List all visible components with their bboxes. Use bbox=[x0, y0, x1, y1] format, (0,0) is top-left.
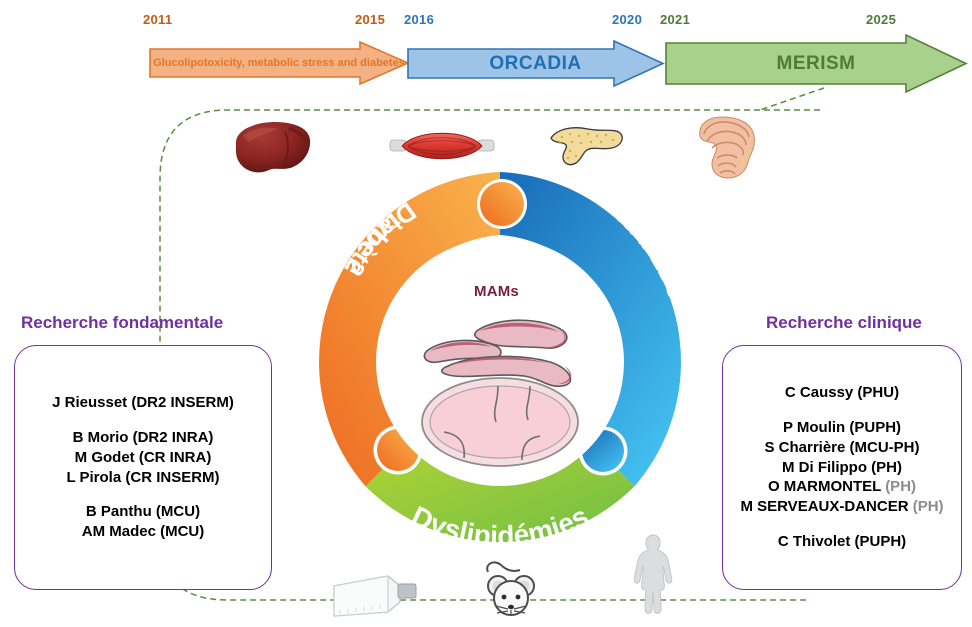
researcher-name: O MARMONTEL (PH) bbox=[768, 477, 916, 497]
year-label-2025: 2025 bbox=[866, 12, 896, 27]
timeline-arrow-merism[interactable]: MERISM bbox=[666, 35, 966, 92]
timeline-arrow-orcadia[interactable]: ORCADIA bbox=[408, 41, 663, 86]
researcher-name: C Caussy (PHU) bbox=[785, 383, 899, 403]
researcher-name-main: O MARMONTEL bbox=[768, 478, 885, 495]
mams-label: MAMs bbox=[474, 283, 519, 300]
researcher-name: M Di Filippo (PH) bbox=[782, 458, 902, 478]
intestine-icon bbox=[692, 114, 762, 182]
researcher-role-dim: (PH) bbox=[913, 498, 944, 515]
mitochondria-er-icon bbox=[422, 320, 578, 466]
researcher-name: M SERVEAUX-DANCER (PH) bbox=[740, 497, 943, 517]
cell-culture-flask-icon bbox=[330, 572, 422, 620]
researcher-name: M Godet (CR INRA) bbox=[75, 448, 212, 468]
researcher-name-main: M SERVEAUX-DANCER bbox=[740, 498, 912, 515]
mouse-icon bbox=[482, 560, 538, 620]
researcher-role-dim: (PH) bbox=[885, 478, 916, 495]
left-panel-content: J Rieusset (DR2 INSERM) B Morio (DR2 INR… bbox=[15, 346, 271, 589]
year-label-2015: 2015 bbox=[355, 12, 385, 27]
year-label-2016: 2016 bbox=[404, 12, 434, 27]
researcher-name: B Morio (DR2 INRA) bbox=[73, 428, 214, 448]
researcher-name: AM Madec (MCU) bbox=[82, 522, 205, 542]
researcher-name: S Charrière (MCU-PH) bbox=[764, 438, 919, 458]
left-panel-title: Recherche fondamentale bbox=[21, 313, 223, 333]
right-panel-title: Recherche clinique bbox=[766, 313, 922, 333]
year-label-2011: 2011 bbox=[143, 12, 172, 27]
researcher-name: P Moulin (PUPH) bbox=[783, 418, 901, 438]
right-panel-content: C Caussy (PHU) P Moulin (PUPH) S Charriè… bbox=[723, 346, 961, 589]
year-label-2021: 2021 bbox=[660, 12, 690, 27]
researcher-name: C Thivolet (PUPH) bbox=[778, 532, 906, 552]
left-panel-recherche-fondamentale[interactable]: J Rieusset (DR2 INSERM) B Morio (DR2 INR… bbox=[14, 345, 272, 590]
researcher-name: L Pirola (CR INSERM) bbox=[66, 468, 219, 488]
year-label-2020: 2020 bbox=[612, 12, 642, 27]
right-panel-recherche-clinique[interactable]: C Caussy (PHU) P Moulin (PUPH) S Charriè… bbox=[722, 345, 962, 590]
researcher-name: J Rieusset (DR2 INSERM) bbox=[52, 393, 234, 413]
timeline-arrow-glucolipotoxicity[interactable]: Glucolipotoxicity, metabolic stress and … bbox=[150, 42, 408, 84]
researcher-name: B Panthu (MCU) bbox=[86, 502, 200, 522]
muscle-icon bbox=[390, 128, 494, 164]
central-ring-diagram: Diabète type 2 NAFLDs Dyslipidémies bbox=[298, 160, 702, 580]
human-silhouette-icon bbox=[632, 534, 674, 616]
